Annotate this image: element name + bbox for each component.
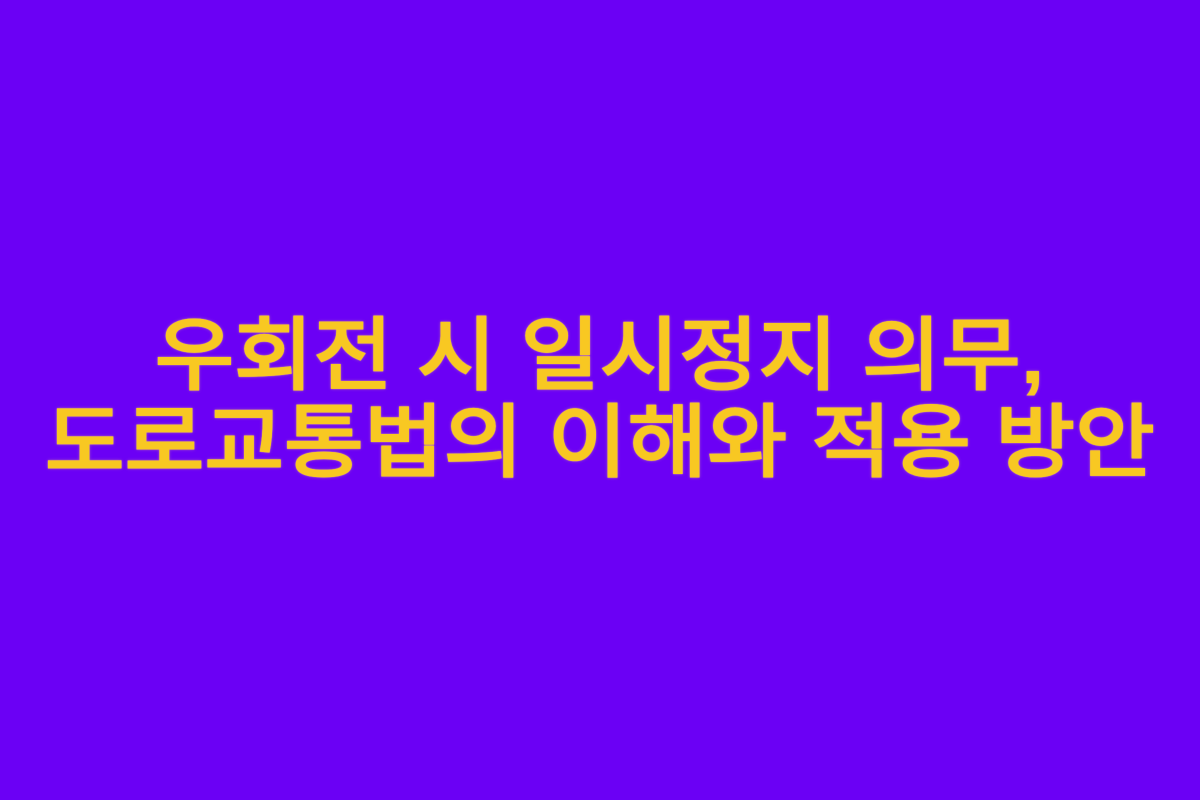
title-line-1: 우회전 시 일시정지 의무, — [0, 314, 1200, 399]
title-line-2: 도로교통법의 이해와 적용 방안 — [0, 401, 1200, 486]
title-card: 우회전 시 일시정지 의무, 도로교통법의 이해와 적용 방안 — [0, 0, 1200, 800]
title-block: 우회전 시 일시정지 의무, 도로교통법의 이해와 적용 방안 — [0, 314, 1200, 486]
